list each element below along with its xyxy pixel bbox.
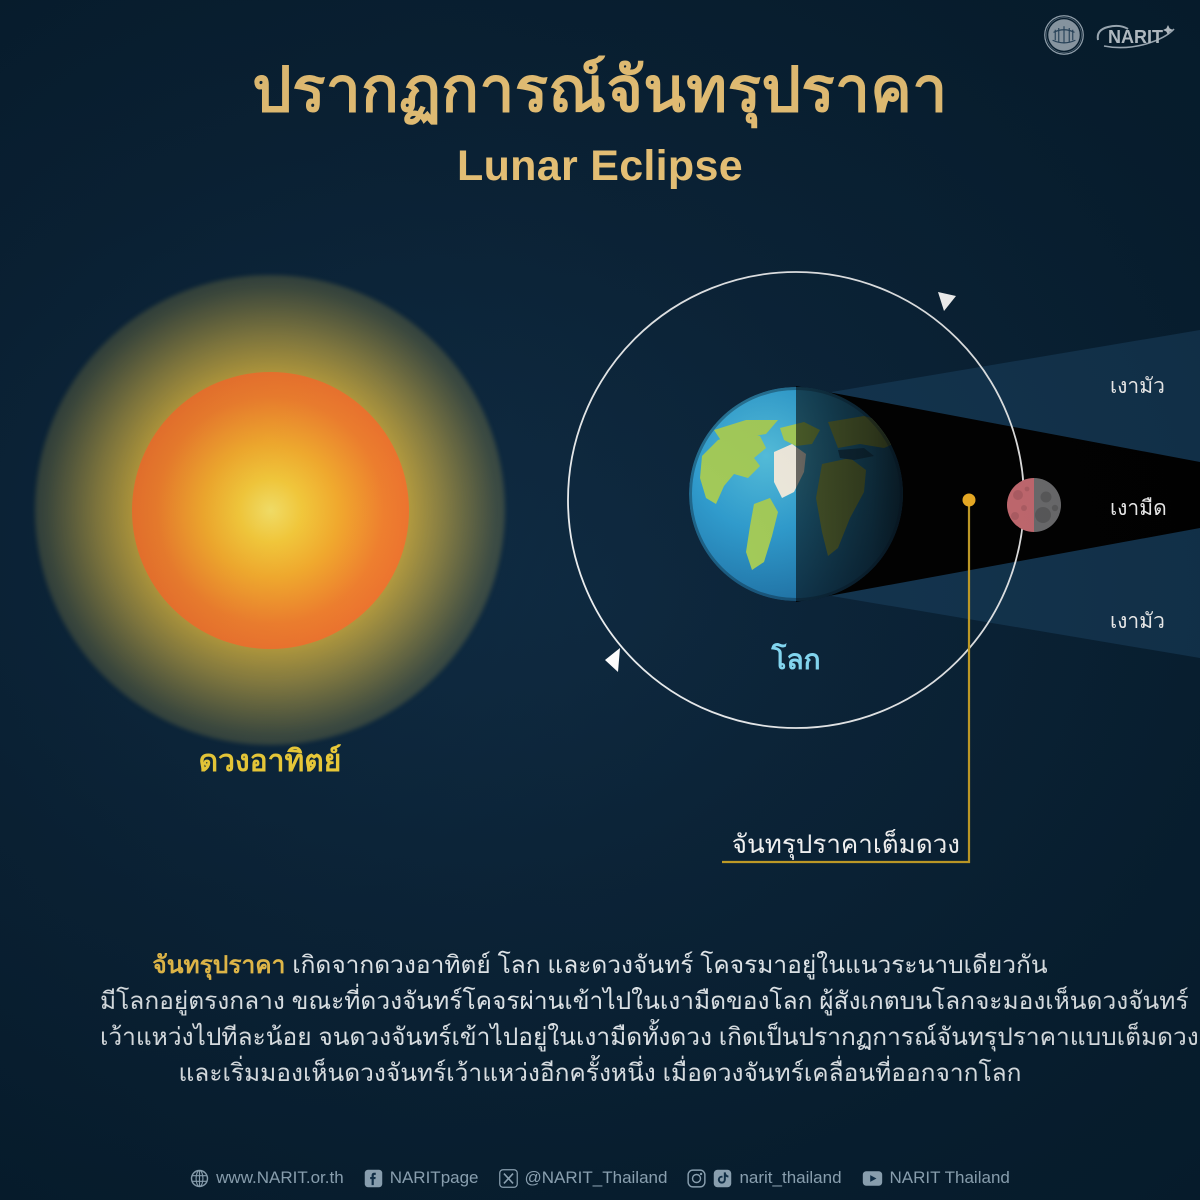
footer-website-text: www.NARIT.or.th [216, 1168, 344, 1188]
footer-item-website[interactable]: www.NARIT.or.th [190, 1168, 344, 1188]
description-paragraph: จันทรุปราคา เกิดจากดวงอาทิตย์ โลก และดวง… [100, 948, 1100, 1092]
facebook-icon [364, 1169, 383, 1188]
footer-instagram-tiktok-text: narit_thailand [739, 1168, 841, 1188]
description-line-1: จันทรุปราคา เกิดจากดวงอาทิตย์ โลก และดวง… [100, 948, 1100, 984]
footer-item-facebook[interactable]: NARITpage [364, 1168, 479, 1188]
description-line-3: เว้าแหว่งไปทีละน้อย จนดวงจันทร์เข้าไปอยู… [100, 1020, 1100, 1056]
social-footer: www.NARIT.or.th NARITpage @NARIT_Thailan… [0, 1168, 1200, 1188]
footer-item-youtube[interactable]: NARIT Thailand [862, 1168, 1010, 1188]
tiktok-icon [713, 1169, 732, 1188]
footer-item-twitter-x[interactable]: @NARIT_Thailand [499, 1168, 668, 1188]
total-eclipse-callout-label: จันทรุปราคาเต็มดวง [660, 824, 960, 865]
description-highlight: จันทรุปราคา [152, 952, 285, 979]
footer-youtube-text: NARIT Thailand [890, 1168, 1010, 1188]
youtube-icon [862, 1169, 883, 1188]
globe-icon [190, 1169, 209, 1188]
description-line-1-rest: เกิดจากดวงอาทิตย์ โลก และดวงจันทร์ โคจรม… [285, 952, 1047, 979]
callout-anchor-dot [963, 494, 976, 507]
description-line-4: และเริ่มมองเห็นดวงจันทร์เว้าแหว่งอีกครั้… [100, 1056, 1100, 1092]
narit-wordmark: NARIT [1094, 20, 1178, 50]
footer-twitter-text: @NARIT_Thailand [525, 1168, 668, 1188]
svg-text:NARIT: NARIT [1108, 27, 1163, 47]
instagram-icon [687, 1169, 706, 1188]
x-twitter-icon [499, 1169, 518, 1188]
footer-item-instagram-tiktok[interactable]: narit_thailand [687, 1168, 841, 1188]
footer-facebook-text: NARITpage [390, 1168, 479, 1188]
infographic-canvas: ดวงอาทิตย์ [0, 0, 1200, 1200]
narit-emblem-icon [1043, 14, 1085, 56]
page-title-english: Lunar Eclipse [0, 142, 1200, 191]
description-line-2: มีโลกอยู่ตรงกลาง ขณะที่ดวงจันทร์โคจรผ่าน… [100, 984, 1100, 1020]
page-title-thai: ปรากฏการณ์จันทรุปราคา [0, 58, 1200, 123]
narit-logo: NARIT [1043, 14, 1178, 56]
